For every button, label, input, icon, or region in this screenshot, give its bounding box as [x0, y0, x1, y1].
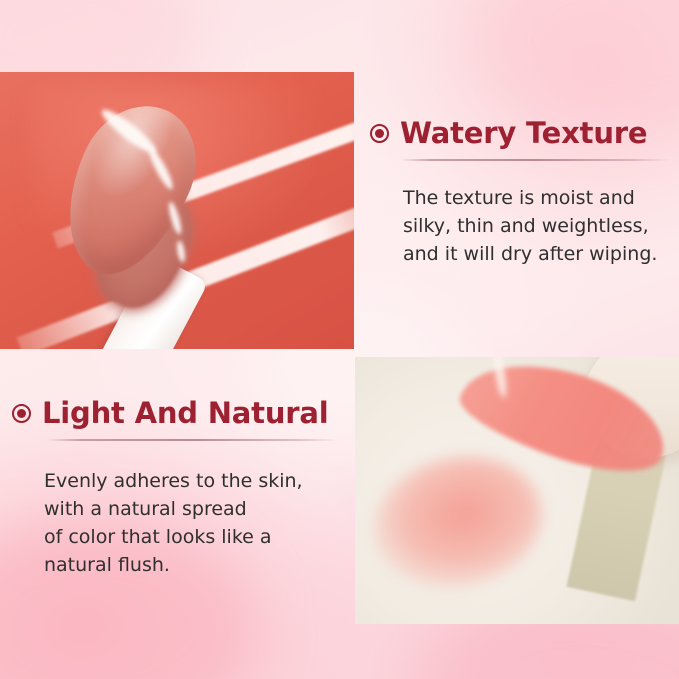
infographic-canvas: Watery Texture The texture is moist and …	[0, 0, 679, 679]
feature-description: The texture is moist and silky, thin and…	[403, 184, 670, 268]
feature-title: Light And Natural	[42, 398, 329, 430]
feature-heading: Watery Texture	[370, 118, 670, 150]
feature-description: Evenly adheres to the skin, with a natur…	[44, 467, 347, 579]
feature-divider	[400, 159, 670, 161]
target-dot-icon	[370, 124, 389, 143]
applicator-wand-photo	[0, 72, 354, 349]
feature-light-and-natural: Light And Natural Evenly adheres to the …	[12, 398, 347, 579]
feature-title: Watery Texture	[400, 118, 647, 150]
feature-divider	[46, 439, 339, 441]
feature-watery-texture: Watery Texture The texture is moist and …	[370, 118, 670, 268]
feature-heading: Light And Natural	[12, 398, 347, 430]
target-dot-icon	[12, 404, 31, 423]
skin-swatch-photo	[355, 357, 679, 624]
